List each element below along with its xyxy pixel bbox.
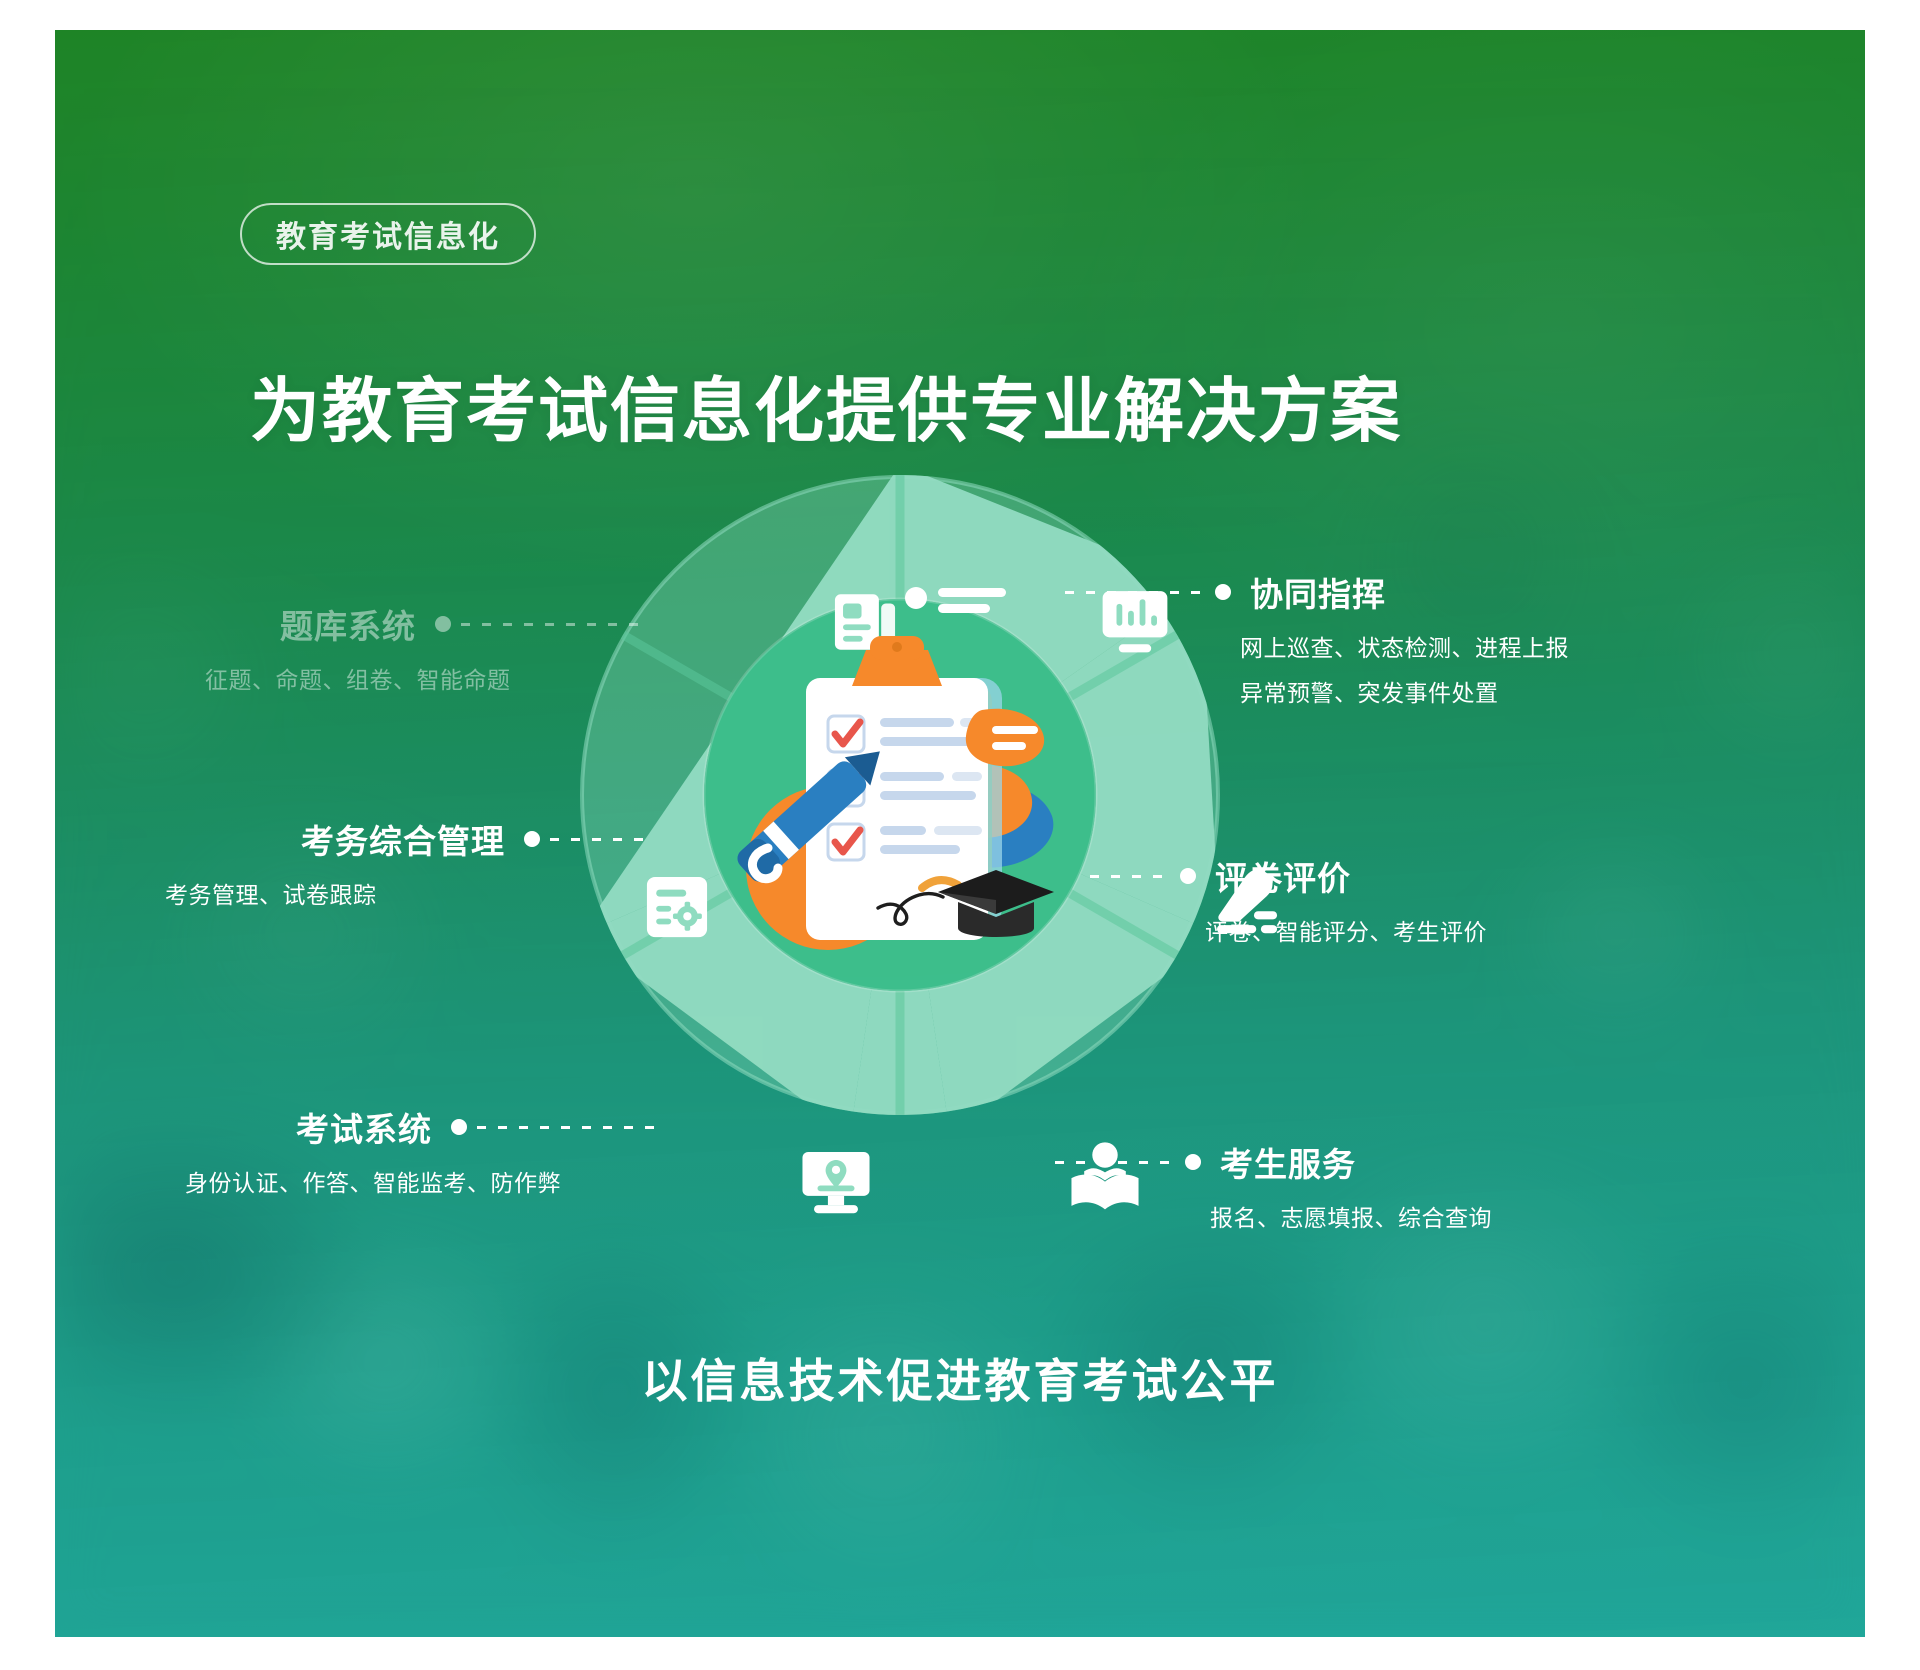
callout-tiku-sub-0: 征题、命题、组卷、智能命题 bbox=[205, 661, 641, 695]
callout-tiku-title-row: 题库系统 bbox=[205, 600, 641, 648]
callout-kaoshi-title: 考试系统 bbox=[296, 1103, 432, 1151]
callout-pingjuan: 评卷评价 评卷、智能评分、考生评价 bbox=[1090, 852, 1487, 947]
connector-dot-icon bbox=[1185, 1154, 1201, 1170]
callout-kaowu: 考务综合管理 考务管理、试卷跟踪 bbox=[165, 815, 645, 910]
callout-pingjuan-sub-0: 评卷、智能评分、考生评价 bbox=[1205, 913, 1487, 947]
connector-line bbox=[1065, 591, 1205, 594]
category-badge-label: 教育考试信息化 bbox=[276, 212, 500, 256]
callout-kaowu-title-row: 考务综合管理 bbox=[165, 815, 645, 863]
callout-kaosheng-title: 考生服务 bbox=[1220, 1138, 1356, 1186]
connector-line bbox=[1090, 875, 1170, 878]
callout-pingjuan-title: 评卷评价 bbox=[1215, 852, 1351, 900]
callout-xietong: 协同指挥 网上巡查、状态检测、进程上报 异常预警、突发事件处置 bbox=[1065, 568, 1569, 708]
callout-tiku-title: 题库系统 bbox=[280, 600, 416, 648]
page-title: 为教育考试信息化提供专业解决方案 bbox=[250, 355, 1402, 456]
callout-kaowu-title: 考务综合管理 bbox=[301, 815, 505, 863]
category-badge: 教育考试信息化 bbox=[240, 203, 536, 265]
callout-kaoshi: 考试系统 身份认证、作答、智能监考、防作弊 bbox=[185, 1103, 665, 1198]
connector-dot-icon bbox=[451, 1119, 467, 1135]
callout-xietong-sub-0: 网上巡查、状态检测、进程上报 bbox=[1240, 629, 1569, 663]
poster-canvas: 教育考试信息化 为教育考试信息化提供专业解决方案 bbox=[55, 30, 1865, 1637]
connector-line bbox=[550, 838, 645, 841]
callout-kaowu-sub-0: 考务管理、试卷跟踪 bbox=[165, 876, 645, 910]
callout-kaosheng: 考生服务 报名、志愿填报、综合查询 bbox=[1055, 1138, 1492, 1233]
callout-kaoshi-sub-0: 身份认证、作答、智能监考、防作弊 bbox=[185, 1164, 665, 1198]
callout-xietong-sub-1: 异常预警、突发事件处置 bbox=[1240, 674, 1569, 708]
connector-line bbox=[477, 1126, 665, 1129]
connector-dot-icon bbox=[1215, 584, 1231, 600]
callout-xietong-title: 协同指挥 bbox=[1250, 568, 1386, 616]
footer-tagline: 以信息技术促进教育考试公平 bbox=[55, 1345, 1865, 1411]
connector-dot-icon bbox=[1180, 868, 1196, 884]
callout-pingjuan-title-row: 评卷评价 bbox=[1090, 852, 1487, 900]
callout-xietong-title-row: 协同指挥 bbox=[1065, 568, 1569, 616]
callout-kaosheng-sub-0: 报名、志愿填报、综合查询 bbox=[1210, 1199, 1492, 1233]
callout-kaoshi-title-row: 考试系统 bbox=[185, 1103, 665, 1151]
connector-dot-icon bbox=[435, 616, 451, 632]
connector-line bbox=[461, 623, 641, 626]
callout-tiku: 题库系统 征题、命题、组卷、智能命题 bbox=[205, 600, 641, 695]
callout-kaosheng-title-row: 考生服务 bbox=[1055, 1138, 1492, 1186]
connector-dot-icon bbox=[524, 831, 540, 847]
connector-line bbox=[1055, 1161, 1175, 1164]
